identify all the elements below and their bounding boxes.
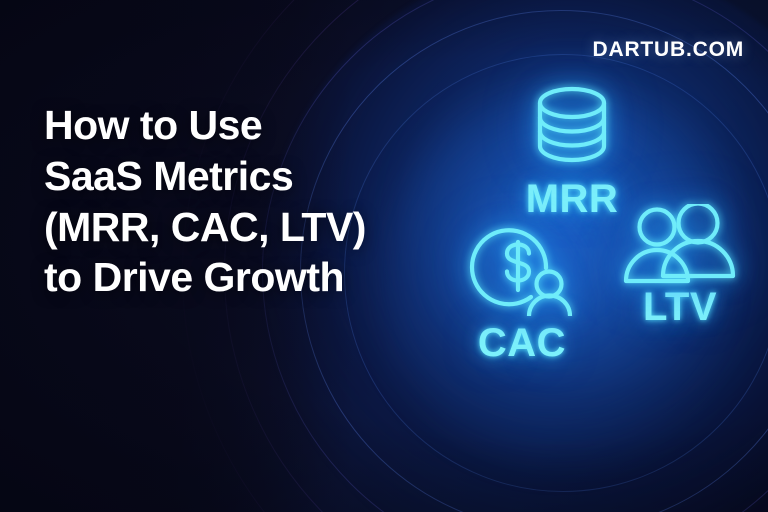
title-line-3: (MRR, CAC, LTV) (44, 202, 444, 253)
title-line-2: SaaS Metrics (44, 151, 444, 202)
dollar-circle-person-icon (442, 216, 602, 321)
page-title: How to Use SaaS Metrics (MRR, CAC, LTV) … (44, 100, 444, 303)
metrics-icon-cluster: MRR CAC (440, 70, 760, 400)
metric-cac: CAC (442, 216, 602, 363)
metric-label-cac: CAC (442, 323, 602, 363)
users-group-icon (605, 204, 755, 291)
site-logo: DARTUB.COM (593, 38, 744, 62)
metric-label-ltv: LTV (605, 287, 755, 327)
thumbnail-canvas: DARTUB.COM How to Use SaaS Metrics (MRR,… (0, 0, 768, 512)
title-line-1: How to Use (44, 100, 444, 151)
title-line-4: to Drive Growth (44, 252, 444, 303)
metric-ltv: LTV (605, 204, 755, 327)
database-icon (492, 84, 652, 175)
metric-mrr: MRR (492, 84, 652, 219)
